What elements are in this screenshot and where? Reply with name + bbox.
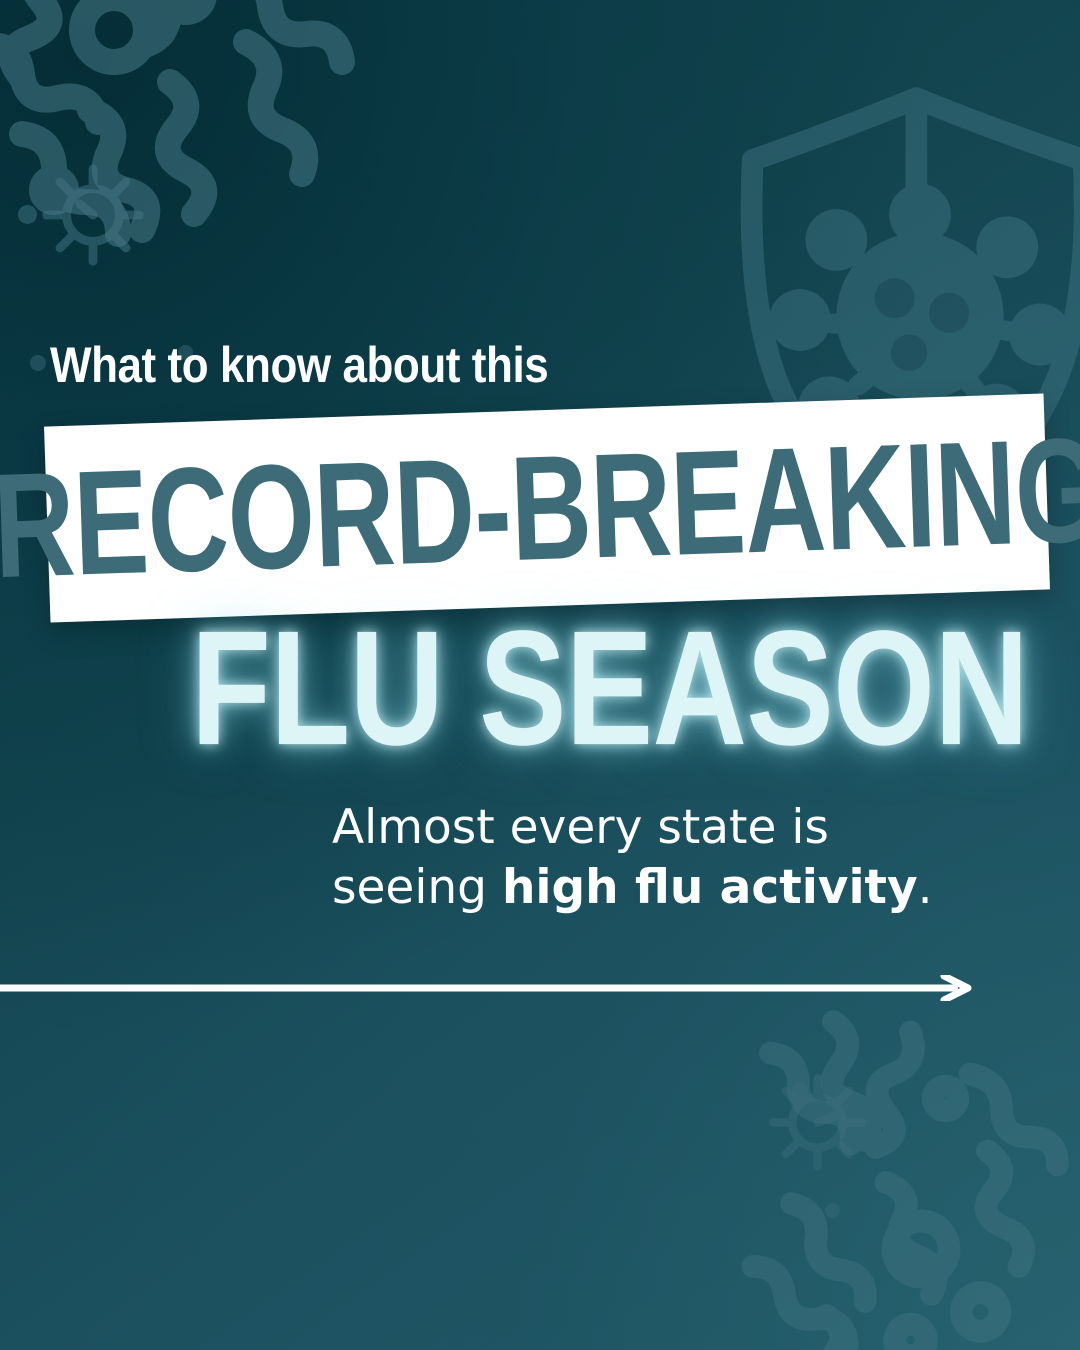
decor-dot <box>792 1082 808 1098</box>
virus-spiky-small-left-icon <box>38 160 148 270</box>
swipe-right-arrow-icon <box>0 975 975 1001</box>
subtitle-text: Almost every state is seeing high flu ac… <box>332 798 972 917</box>
headline-text: RECORD-BREAKING <box>0 415 1080 600</box>
subtitle-emphasis: high flu activity <box>502 860 918 915</box>
subtitle-line-2-suffix: . <box>918 860 933 915</box>
germ-cluster-bottomright-icon <box>690 990 1080 1350</box>
subtitle-line-2-prefix: seeing <box>332 860 502 915</box>
headline-band: RECORD-BREAKING <box>44 393 1050 622</box>
poster-canvas: What to know about this RECORD-BREAKING … <box>0 0 1080 1350</box>
decor-dot <box>18 205 37 224</box>
virus-spiky-small-bottomright-icon <box>765 1070 870 1175</box>
decor-dot <box>30 355 46 371</box>
decor-dot <box>825 1203 840 1218</box>
germ-cluster-topleft-icon <box>0 0 410 370</box>
subtitle-line-1: Almost every state is <box>332 800 829 855</box>
eyebrow-text: What to know about this <box>50 340 548 390</box>
headline-accent-text: FLU SEASON <box>191 606 1028 769</box>
